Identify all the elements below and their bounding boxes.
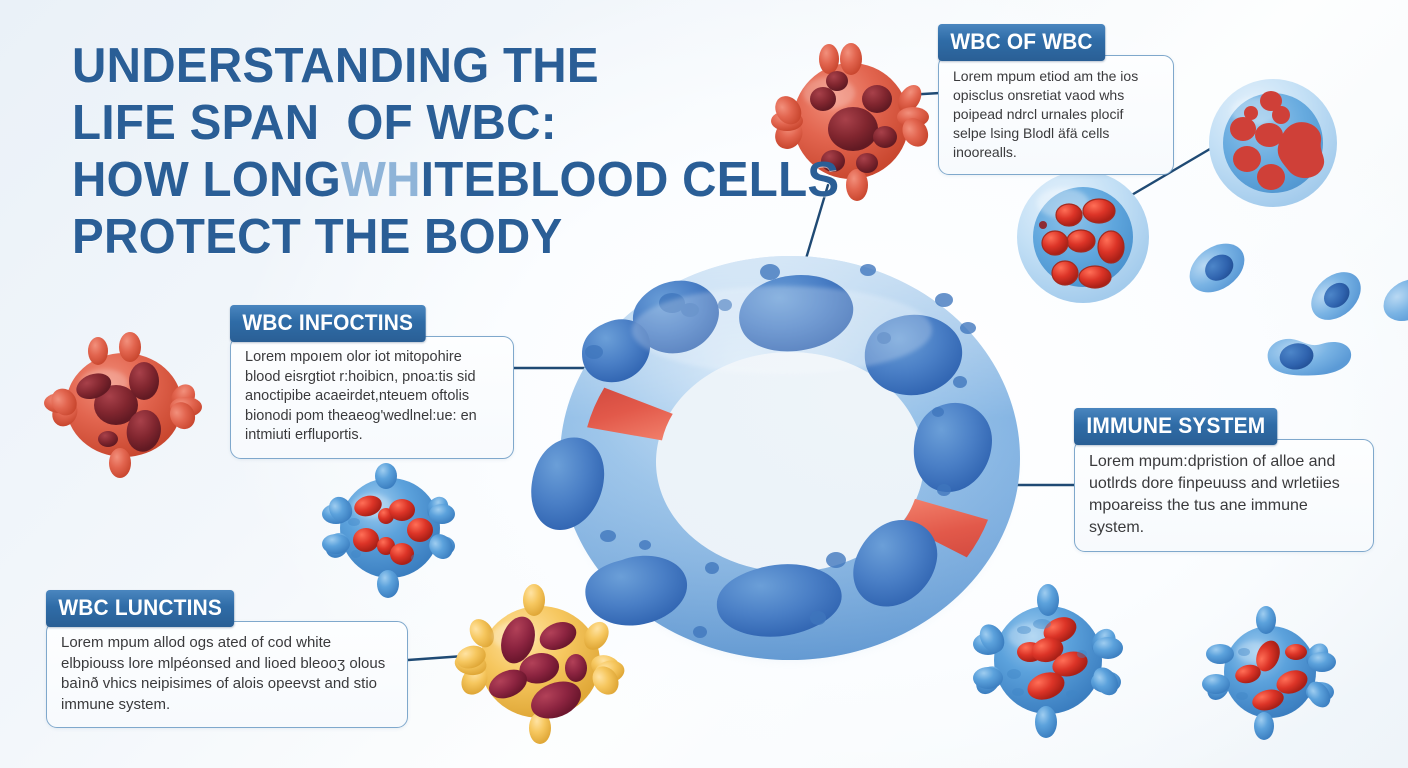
callout-text-wbc-infoctins: Lorem mpoıem olor iot mitopohire blood e… [245,348,499,446]
callout-body-wbc-of-wbc: Lorem mpum etiod am the ios opisclus ons… [938,55,1174,175]
title-line-2: LIFE SPAN OF WBC: [72,95,751,152]
callout-header-immune-system: IMMUNE SYSTEM [1074,408,1278,445]
lymphocyte-small-1 [1180,234,1253,303]
title-line-4: PROTECT THE BODY [72,209,751,266]
blue-spiky-cell-mid [321,463,458,598]
title-line-3: HOW LONGWHITEBLOOD CELLS [72,152,751,209]
callout-header-wbc-lunctins: WBC LUNCTINS [46,590,234,627]
lymphocyte-small-2 [1302,262,1370,329]
callout-text-wbc-of-wbc: Lorem mpum etiod am the ios opisclus ons… [953,67,1159,162]
title-line-3a: HOW LONG [72,153,341,207]
callout-body-immune-system: Lorem mpum:dpristion of alloe and uotlrd… [1074,439,1374,552]
lymphocyte-small-4 [1376,271,1408,330]
callout-wbc-of-wbc[interactable]: WBC OF WBC Lorem mpum etiod am the ios o… [938,24,1174,175]
callout-wbc-infoctins[interactable]: WBC INFOCTINS Lorem mpoıem olor iot mito… [230,305,514,459]
title-line-3c: ITEBLOOD CELLS [421,153,840,207]
title-line-3-smudge: WH [341,153,421,207]
callout-wbc-lunctins[interactable]: WBC LUNCTINS Lorem mpum allod ogs ated o… [46,590,408,728]
blue-spiky-cell-br-1 [971,584,1123,738]
title-line-1: UNDERSTANDING THE [72,38,751,95]
page-title: UNDERSTANDING THE LIFE SPAN OF WBC: HOW … [72,38,751,266]
blood-vessel-ring [531,256,1020,660]
round-blue-cell-upper [1209,79,1337,207]
callout-body-wbc-infoctins: Lorem mpoıem olor iot mitopohire blood e… [230,336,514,459]
infographic-canvas: UNDERSTANDING THE LIFE SPAN OF WBC: HOW … [0,0,1408,768]
callout-header-wbc-infoctins: WBC INFOCTINS [230,305,426,342]
callout-immune-system[interactable]: IMMUNE SYSTEM Lorem mpum:dpristion of al… [1074,408,1374,552]
callout-header-wbc-of-wbc: WBC OF WBC [938,24,1105,61]
blue-spiky-cell-br-2 [1202,606,1336,740]
lymphocyte-small-3 [1265,328,1354,383]
callout-body-wbc-lunctins: Lorem mpum allod ogs ated of cod white e… [46,621,408,728]
callout-text-wbc-lunctins: Lorem mpum allod ogs ated of cod white e… [61,633,393,715]
red-spiky-cell-left [44,332,202,478]
round-blue-cell-rbc [1017,171,1149,303]
callout-text-immune-system: Lorem mpum:dpristion of alloe and uotlrd… [1089,451,1359,539]
